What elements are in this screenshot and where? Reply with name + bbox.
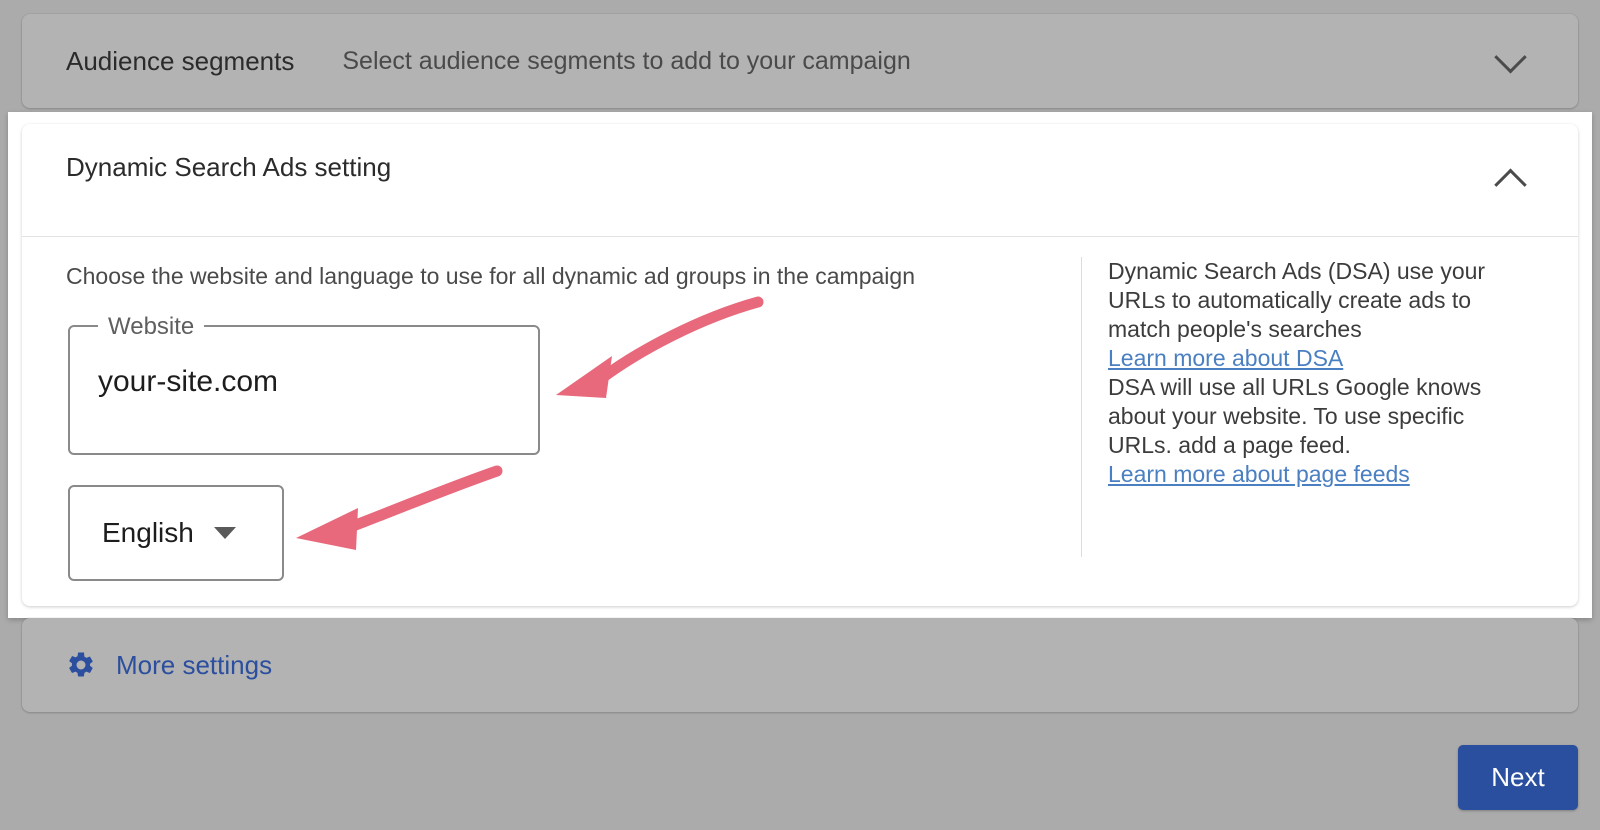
learn-more-dsa-link[interactable]: Learn more about DSA xyxy=(1108,344,1343,373)
audience-segments-title: Audience segments xyxy=(66,46,294,77)
chevron-down-glyph xyxy=(1494,40,1527,73)
help-paragraph-1: Dynamic Search Ads (DSA) use your URLs t… xyxy=(1108,257,1508,344)
gear-icon xyxy=(66,650,96,680)
help-paragraph-2: DSA will use all URLs Google knows about… xyxy=(1108,373,1508,460)
more-settings-label: More settings xyxy=(116,650,272,681)
dsa-section-frame: Dynamic Search Ads setting Choose the we… xyxy=(8,112,1592,618)
dsa-help-panel: Dynamic Search Ads (DSA) use your URLs t… xyxy=(1108,257,1508,489)
help-panel-divider xyxy=(1081,257,1082,557)
website-input-value: your-site.com xyxy=(98,365,278,399)
dsa-instruction-text: Choose the website and language to use f… xyxy=(66,263,915,290)
audience-segments-description: Select audience segments to add to your … xyxy=(342,47,910,76)
dsa-card-body: Choose the website and language to use f… xyxy=(22,237,1578,606)
website-field-label: Website xyxy=(98,312,204,342)
language-dropdown[interactable]: English xyxy=(68,485,284,581)
caret-down-icon xyxy=(214,527,236,539)
chevron-up-icon[interactable] xyxy=(1490,160,1530,200)
more-settings-section[interactable]: More settings xyxy=(22,618,1578,712)
chevron-up-glyph xyxy=(1494,168,1527,201)
dsa-section-title: Dynamic Search Ads setting xyxy=(66,146,466,189)
next-button[interactable]: Next xyxy=(1458,745,1578,810)
dsa-card-header[interactable]: Dynamic Search Ads setting xyxy=(22,124,1578,237)
language-dropdown-value: English xyxy=(102,517,194,549)
website-input[interactable]: Website your-site.com xyxy=(68,325,540,455)
chevron-down-icon[interactable] xyxy=(1490,41,1530,81)
learn-more-page-feeds-link[interactable]: Learn more about page feeds xyxy=(1108,460,1410,489)
audience-segments-section[interactable]: Audience segments Select audience segmen… xyxy=(22,14,1578,108)
dsa-settings-card: Dynamic Search Ads setting Choose the we… xyxy=(22,124,1578,606)
